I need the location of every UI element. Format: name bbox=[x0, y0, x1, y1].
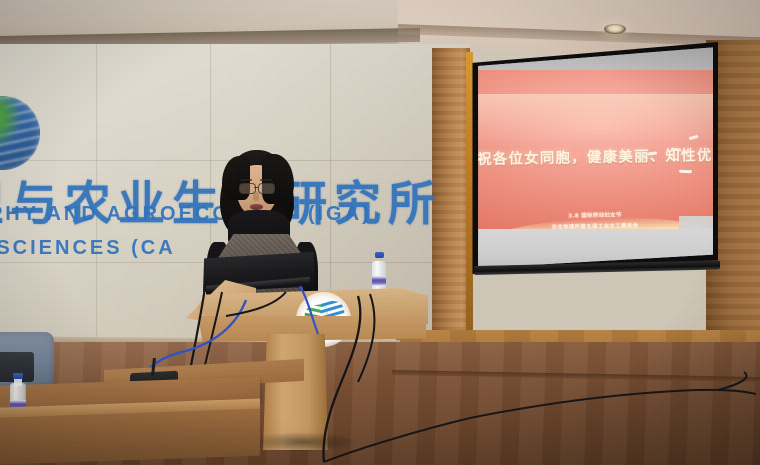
conference-room-photo: 理与农业生态研究所 RAPHY AND AGROECOLOGY (IGA) OF… bbox=[0, 0, 760, 465]
black-cable bbox=[324, 296, 361, 462]
floor-cable-loop bbox=[718, 372, 746, 390]
bottle-neck bbox=[14, 378, 22, 386]
black-cable bbox=[226, 292, 286, 316]
table-front-panel bbox=[0, 409, 260, 465]
floor-cable bbox=[324, 390, 756, 462]
bottle-cap bbox=[13, 373, 23, 379]
blue-cable bbox=[300, 286, 318, 334]
